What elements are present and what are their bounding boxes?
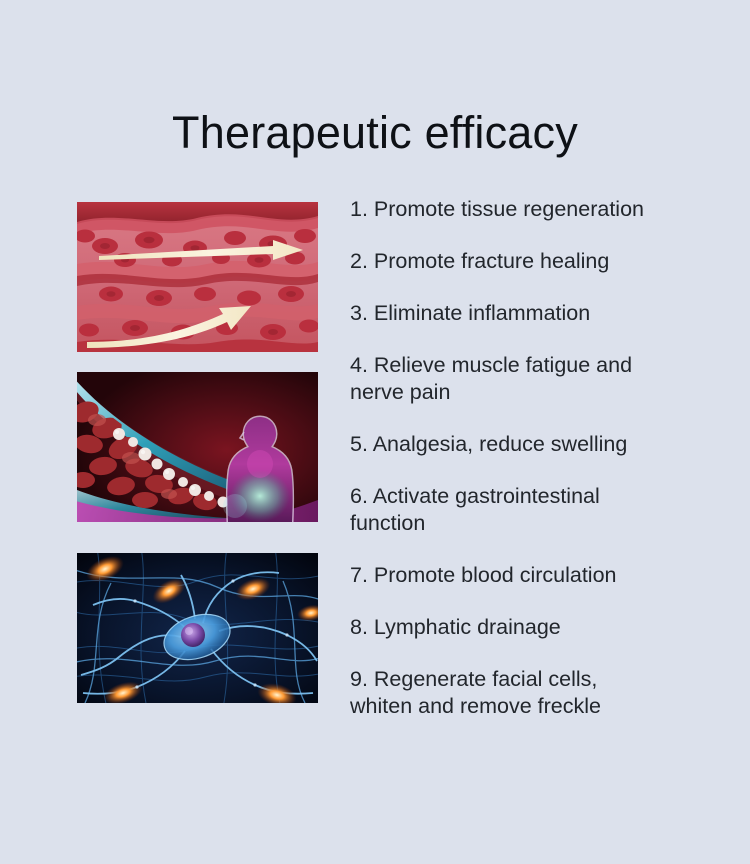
blood-vessel-svg [77,202,318,352]
list-item: 3. Eliminate inflammation [350,300,710,327]
list-item: 8. Lymphatic drainage [350,614,710,641]
neuron-svg [77,553,318,703]
page-title: Therapeutic efficacy [0,108,750,158]
therapeutic-benefits-list: 1. Promote tissue regeneration 2. Promot… [350,196,710,720]
list-item: 2. Promote fracture healing [350,248,710,275]
list-item: 4. Relieve muscle fatigue and nerve pain [350,352,710,406]
list-item: 9. Regenerate facial cells, whiten and r… [350,666,710,720]
list-item: 1. Promote tissue regeneration [350,196,710,223]
blood-circulation-body-illustration [77,372,318,522]
list-item: 6. Activate gastrointestinal function [350,483,710,537]
list-item: 5. Analgesia, reduce swelling [350,431,710,458]
neuron-network-illustration [77,553,318,703]
list-item: 7. Promote blood circulation [350,562,710,589]
infographic-page: Therapeutic efficacy [0,0,750,864]
blood-vessel-flow-illustration [77,202,318,352]
circulation-svg [77,372,318,522]
neuron-nucleus [181,623,205,647]
